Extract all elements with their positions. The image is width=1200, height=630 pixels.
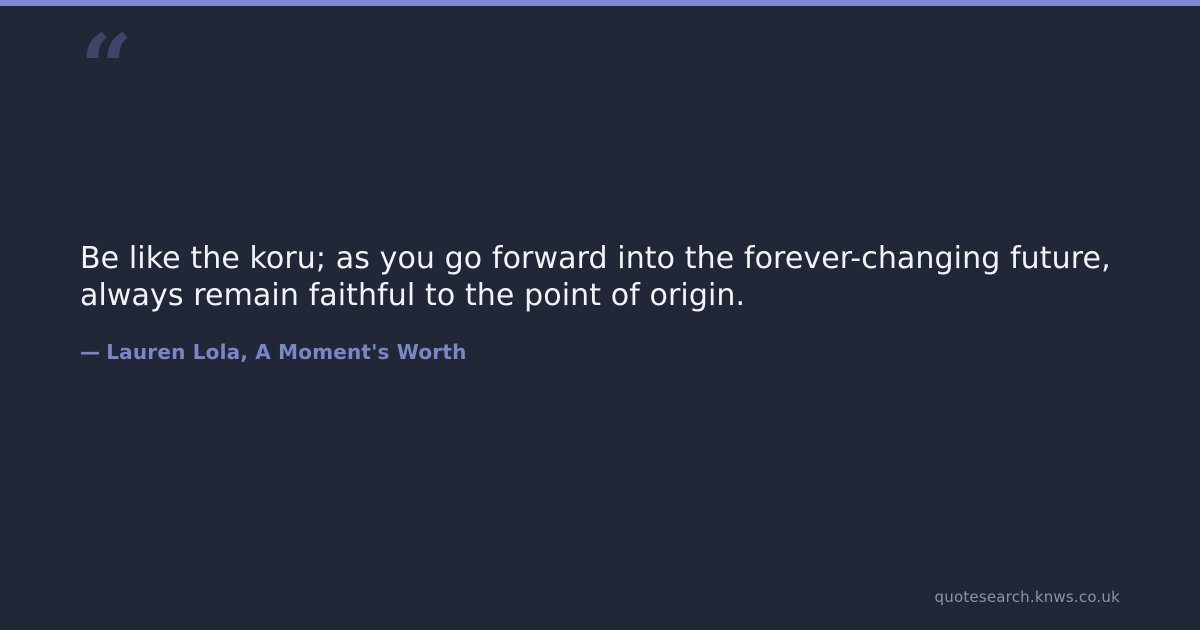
quote-card: “ Be like the koru; as you go forward in… xyxy=(0,0,1200,630)
quote-content: Be like the koru; as you go forward into… xyxy=(80,240,1120,364)
attribution-text: Lauren Lola, A Moment's Worth xyxy=(106,340,466,364)
attribution-dash: — xyxy=(80,340,100,364)
quote-text: Be like the koru; as you go forward into… xyxy=(80,240,1120,314)
top-accent-bar xyxy=(0,0,1200,6)
quote-attribution: —Lauren Lola, A Moment's Worth xyxy=(80,340,1120,364)
site-watermark: quotesearch.knws.co.uk xyxy=(935,588,1120,606)
open-quote-icon: “ xyxy=(80,22,131,114)
